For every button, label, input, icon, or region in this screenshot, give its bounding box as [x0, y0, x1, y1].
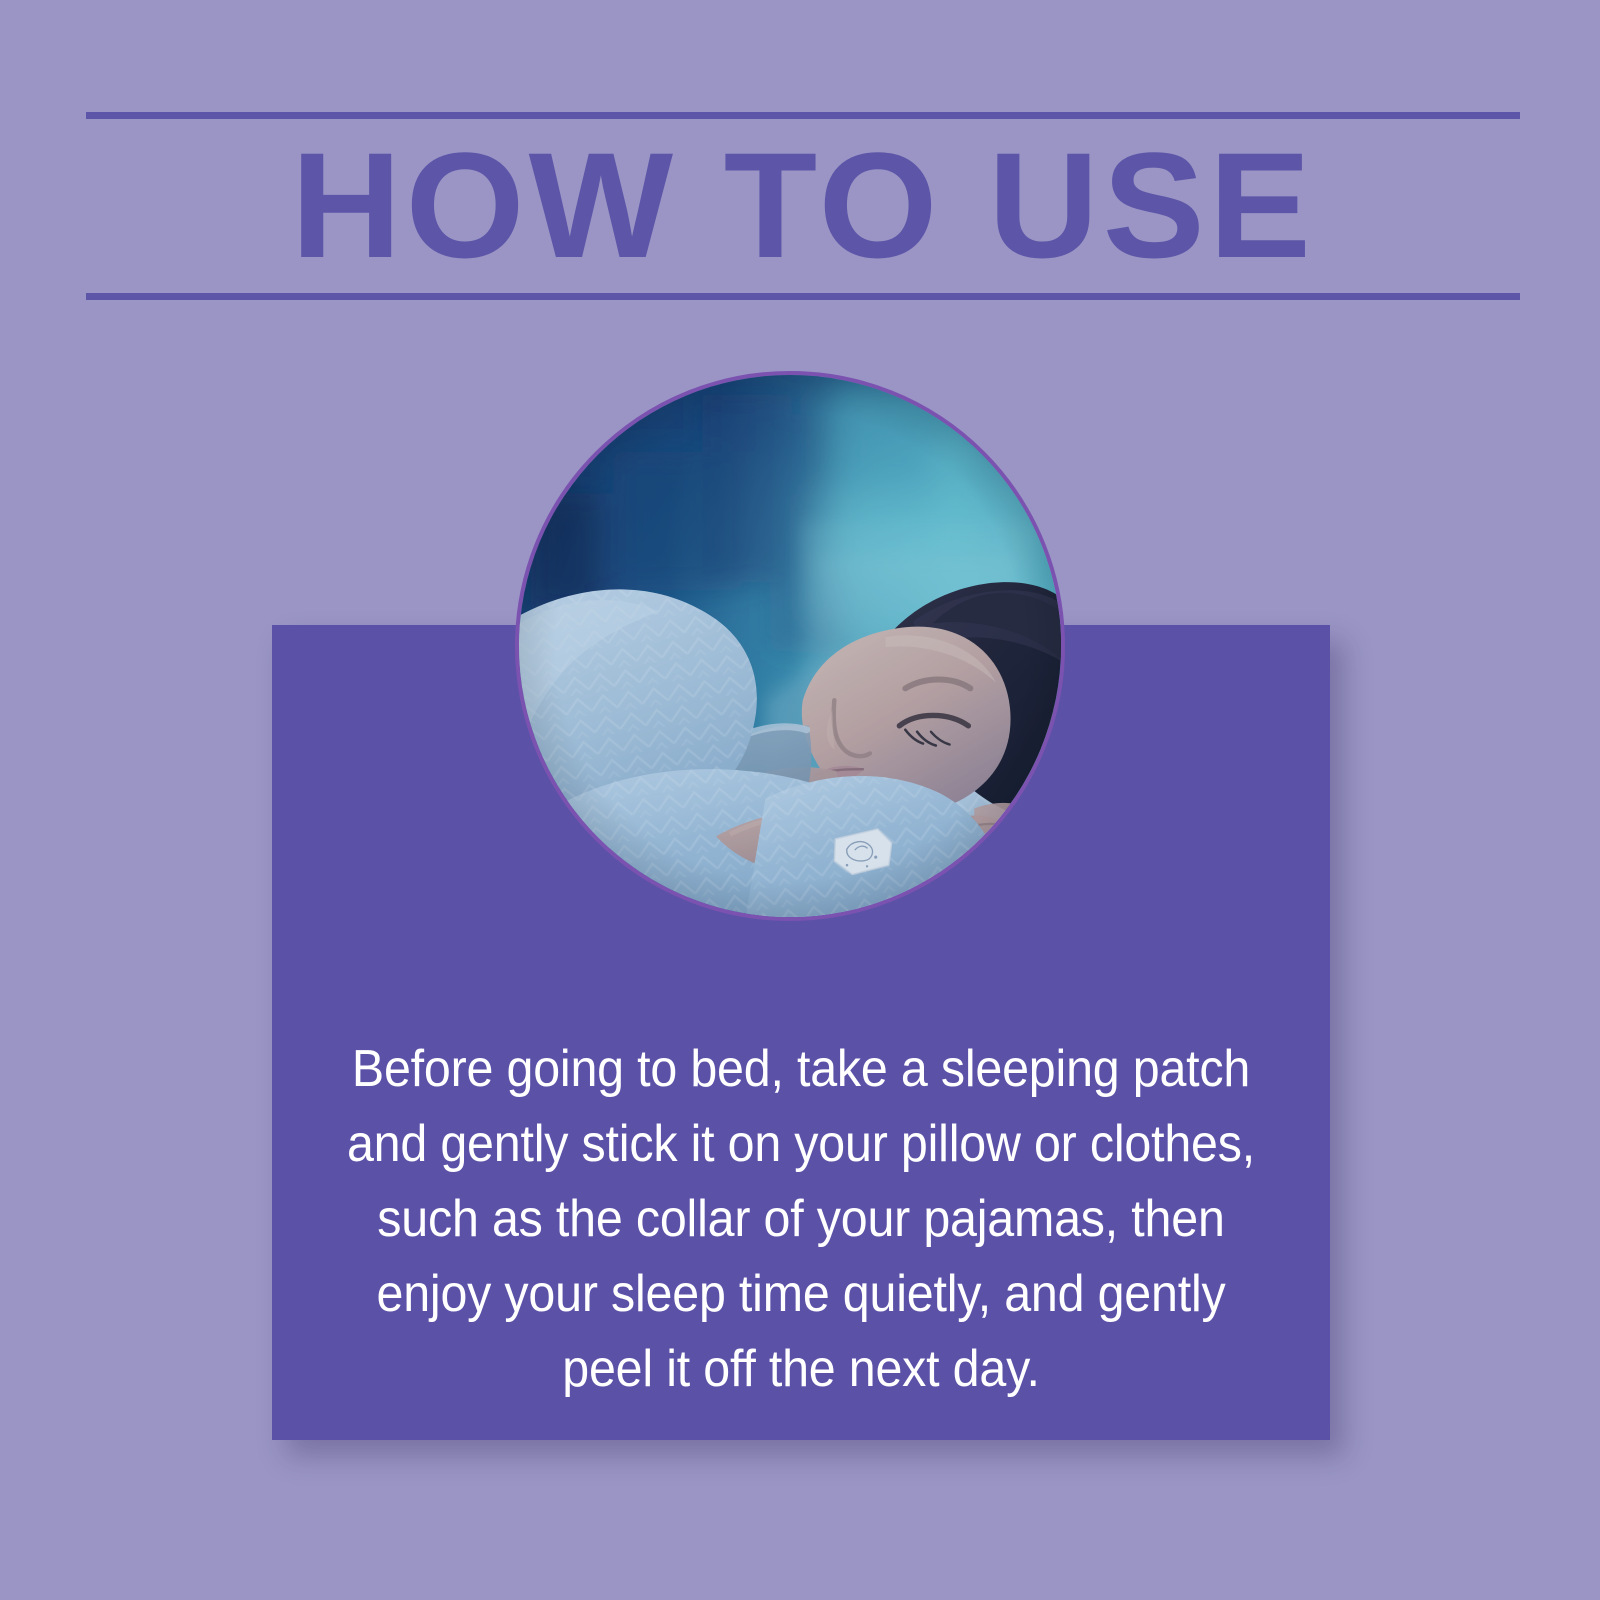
poster-canvas: HOW TO USE Before going to bed, take a s…: [0, 0, 1600, 1600]
title-bottom-rule: [86, 293, 1520, 300]
header-block: HOW TO USE: [86, 112, 1520, 300]
instruction-text: Before going to bed, take a sleeping pat…: [309, 1032, 1293, 1407]
sleeping-woman-photo: [515, 371, 1065, 921]
title-top-rule: [86, 112, 1520, 119]
page-title: HOW TO USE: [72, 119, 1535, 293]
sleeping-scene-illustration: [519, 375, 1061, 917]
